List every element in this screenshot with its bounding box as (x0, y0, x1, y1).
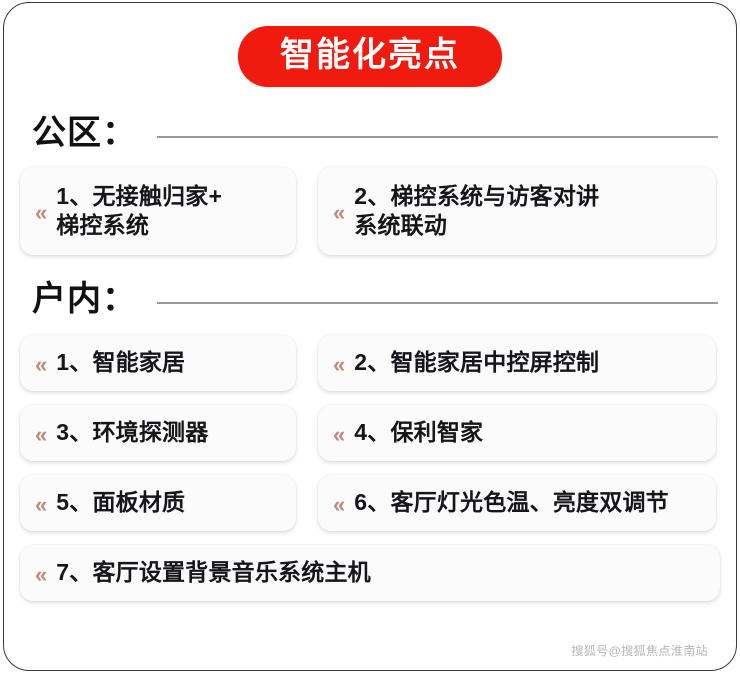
list-item-label: 1、无接触归家+ 梯控系统 (56, 182, 222, 241)
list-item-label: 2、智能家居中控屏控制 (354, 348, 599, 377)
double-chevron-left-icon: « (333, 494, 344, 516)
section-title-indoor: 户内： (32, 281, 137, 318)
double-chevron-left-icon: « (35, 564, 46, 586)
list-item[interactable]: « 1、智能家居 (20, 335, 296, 391)
double-chevron-left-icon: « (35, 354, 46, 376)
section-divider-line (157, 302, 718, 304)
list-item-label: 7、客厅设置背景音乐系统主机 (56, 558, 371, 587)
list-item-label: 3、环境探测器 (56, 418, 208, 447)
list-item-label: 1、智能家居 (56, 348, 185, 377)
infographic-page: 智能化亮点 公区： « 1、无接触归家+ 梯控系统 « 2、梯控系统与访客对讲 … (0, 0, 740, 673)
list-item-label: 2、梯控系统与访客对讲 系统联动 (354, 182, 599, 241)
list-item[interactable]: « 1、无接触归家+ 梯控系统 (20, 167, 296, 255)
section-title-public: 公区： (32, 115, 137, 152)
card-grid-indoor: « 1、智能家居 « 2、智能家居中控屏控制 « 3、环境探测器 « 4、保利智… (20, 335, 720, 601)
source-watermark: 搜狐号@搜狐焦点淮南站 (571, 642, 708, 659)
title-banner: 智能化亮点 (20, 0, 720, 87)
page-title-badge: 智能化亮点 (238, 26, 502, 87)
section-heading-indoor: 户内： (32, 281, 720, 318)
list-item[interactable]: « 2、智能家居中控屏控制 (318, 335, 716, 391)
list-item[interactable]: « 2、梯控系统与访客对讲 系统联动 (318, 167, 716, 255)
list-item[interactable]: « 4、保利智家 (318, 405, 716, 461)
double-chevron-left-icon: « (35, 494, 46, 516)
double-chevron-left-icon: « (35, 202, 46, 224)
section-divider-line (157, 136, 718, 138)
double-chevron-left-icon: « (333, 354, 344, 376)
section-heading-public: 公区： (32, 115, 720, 152)
list-item[interactable]: « 7、客厅设置背景音乐系统主机 (20, 545, 720, 601)
card-grid-public: « 1、无接触归家+ 梯控系统 « 2、梯控系统与访客对讲 系统联动 (20, 167, 720, 255)
page-content: 智能化亮点 公区： « 1、无接触归家+ 梯控系统 « 2、梯控系统与访客对讲 … (0, 0, 740, 673)
double-chevron-left-icon: « (333, 202, 344, 224)
list-item[interactable]: « 5、面板材质 (20, 475, 296, 531)
list-item-label: 4、保利智家 (354, 418, 483, 447)
double-chevron-left-icon: « (333, 424, 344, 446)
list-item-label: 6、客厅灯光色温、亮度双调节 (354, 488, 669, 517)
double-chevron-left-icon: « (35, 424, 46, 446)
list-item[interactable]: « 3、环境探测器 (20, 405, 296, 461)
list-item[interactable]: « 6、客厅灯光色温、亮度双调节 (318, 475, 716, 531)
list-item-label: 5、面板材质 (56, 488, 185, 517)
